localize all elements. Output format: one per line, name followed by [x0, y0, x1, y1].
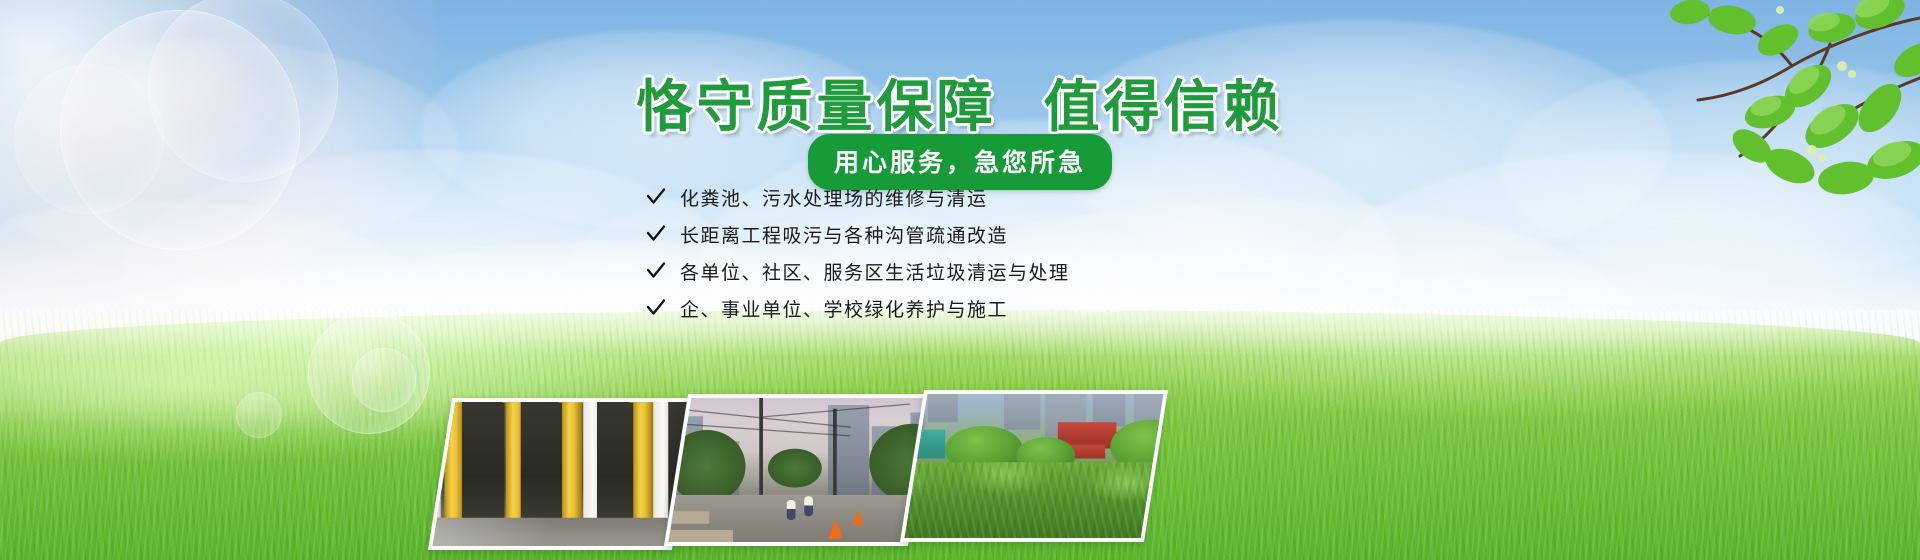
list-item: 长距离工程吸污与各种沟管疏通改造: [646, 217, 1206, 251]
photo-green-hedge: [900, 390, 1168, 542]
check-icon: [646, 224, 666, 244]
photo-image: [433, 402, 692, 546]
list-item: 化粪池、污水处理场的维修与清运: [646, 180, 1206, 214]
photo-image: [669, 398, 928, 542]
photo-frame: [433, 402, 692, 546]
list-item: 各单位、社区、服务区生活垃圾清运与处理: [646, 254, 1206, 288]
check-icon: [646, 261, 666, 281]
page-title: 恪守质量保障 值得信赖: [0, 62, 1920, 143]
photo-image: [905, 394, 1164, 538]
list-item-label: 长距离工程吸污与各种沟管疏通改造: [680, 221, 1008, 248]
photo-frame: [905, 394, 1164, 538]
list-item-label: 各单位、社区、服务区生活垃圾清运与处理: [680, 258, 1070, 285]
check-icon: [646, 187, 666, 207]
photo-frame: [669, 398, 928, 542]
promo-banner: 恪守质量保障 值得信赖 用心服务，急您所急 化粪池、污水处理场的维修与清运 长距…: [0, 0, 1920, 560]
soap-bubble-icon: [236, 392, 282, 438]
list-item-label: 化粪池、污水处理场的维修与清运: [680, 184, 988, 211]
soap-bubble-icon: [352, 348, 416, 412]
photo-corridor: [428, 398, 696, 550]
photo-road-works: [664, 394, 932, 546]
photo-strip: [430, 300, 1190, 560]
